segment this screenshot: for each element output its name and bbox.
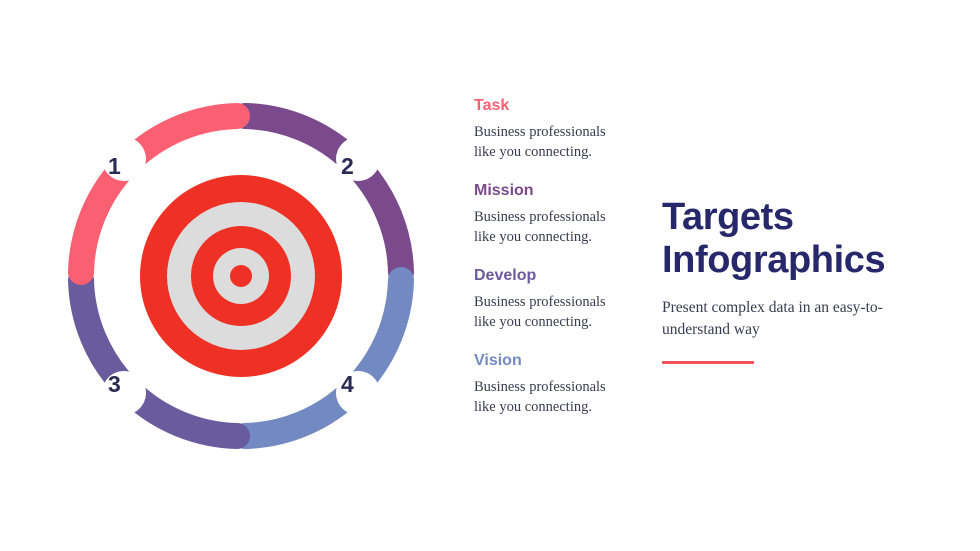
item-desc-vision: Business professionals like you connecti… <box>474 377 629 417</box>
donut-svg <box>50 85 432 467</box>
slide-root: 1 2 3 4 Task Business professionals like… <box>0 0 980 551</box>
accent-rule <box>662 361 754 364</box>
segment-number-4: 4 <box>341 373 354 396</box>
segment-number-2: 2 <box>341 155 354 178</box>
headline-block: Targets Infographics Present complex dat… <box>662 196 962 364</box>
segment-number-3: 3 <box>108 373 121 396</box>
list-item-mission: Mission Business professionals like you … <box>474 181 639 247</box>
item-desc-develop: Business professionals like you connecti… <box>474 292 629 332</box>
item-title-vision: Vision <box>474 351 639 371</box>
page-title-line-1: Targets <box>662 196 962 239</box>
page-subtitle: Present complex data in an easy-to-under… <box>662 297 910 341</box>
list-item-develop: Develop Business professionals like you … <box>474 266 639 332</box>
items-list: Task Business professionals like you con… <box>474 96 639 417</box>
target-donut-diagram: 1 2 3 4 <box>50 85 432 467</box>
list-item-vision: Vision Business professionals like you c… <box>474 351 639 417</box>
segment-number-1: 1 <box>108 155 121 178</box>
page-title-line-2: Infographics <box>662 239 962 282</box>
list-item-task: Task Business professionals like you con… <box>474 96 639 162</box>
item-desc-task: Business professionals like you connecti… <box>474 122 629 162</box>
bullseye-center <box>230 265 252 287</box>
item-title-mission: Mission <box>474 181 639 201</box>
item-title-develop: Develop <box>474 266 639 286</box>
item-desc-mission: Business professionals like you connecti… <box>474 207 629 247</box>
item-title-task: Task <box>474 96 639 116</box>
